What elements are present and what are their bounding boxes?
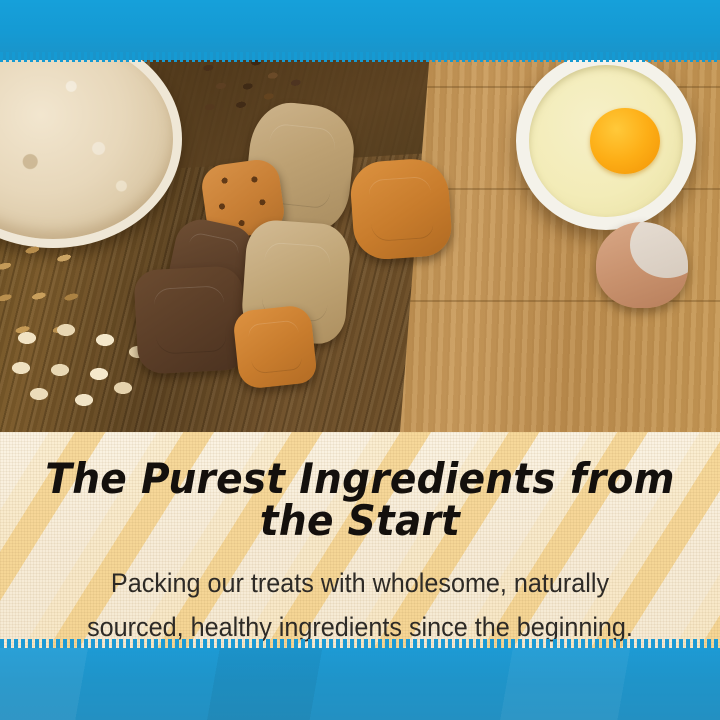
body-copy-line-1: Packing our treats with wholesome, natur…: [18, 562, 702, 606]
treat-emboss-icon: [248, 320, 303, 375]
ingredients-photo: [0, 0, 720, 432]
rolled-oats-icon: [6, 318, 156, 418]
page-title: The Purest Ingredients from the Start: [25, 432, 695, 542]
plank-line-icon: [400, 300, 720, 302]
treat-emboss-icon: [368, 176, 435, 243]
dog-treat-elephant-icon: [349, 157, 454, 262]
dog-treat-orange-icon: [232, 304, 318, 390]
message-band: The Purest Ingredients from the Start Pa…: [0, 432, 720, 664]
egg-shell-icon: [596, 222, 688, 308]
body-copy: Packing our treats with wholesome, natur…: [18, 542, 702, 650]
treat-emboss-icon: [154, 285, 227, 355]
dog-treat-chocolate-large-icon: [133, 265, 246, 375]
promotional-banner: The Purest Ingredients from the Start Pa…: [0, 0, 720, 720]
top-blue-paint-band: [0, 0, 720, 60]
brush-texture-icon: [0, 648, 720, 720]
bottom-blue-paint-band: [0, 648, 720, 720]
egg-yolk-icon: [590, 108, 660, 174]
egg-ramekin-icon: [516, 52, 696, 230]
